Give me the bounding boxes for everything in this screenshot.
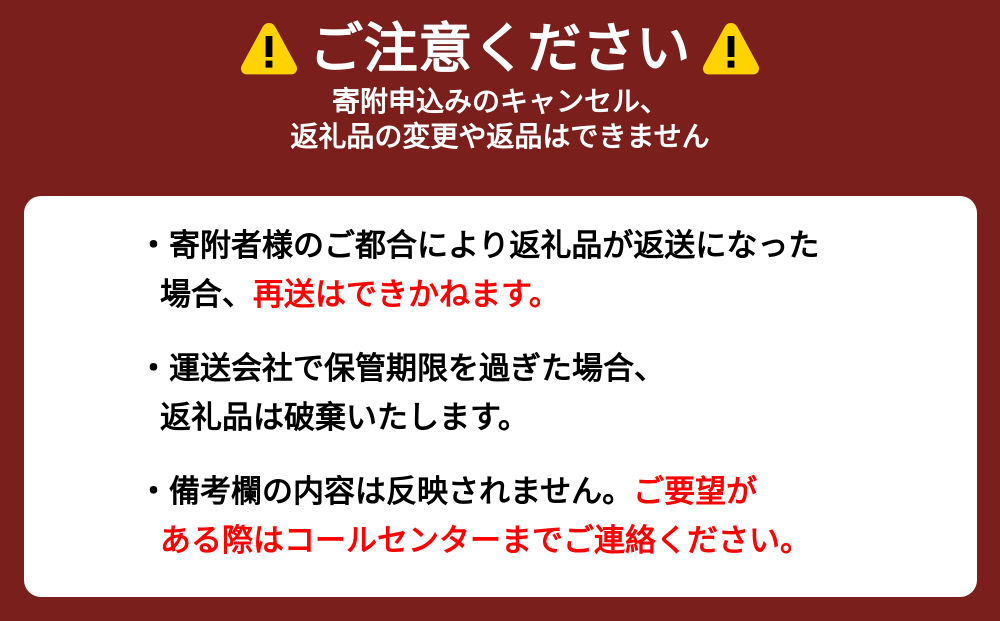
bullet-marker: ・ xyxy=(138,474,169,510)
warning-triangle-icon xyxy=(239,21,299,77)
subtitle-line-1: 寄附申込みのキャンセル、 xyxy=(0,84,1000,119)
note-line: ・備考欄の内容は反映されません。ご要望が xyxy=(138,468,977,517)
note-text-black: 返礼品は破棄いたします。 xyxy=(160,400,529,436)
note-line: ・寄附者様のご都合により返礼品が返送になった xyxy=(138,222,977,271)
note-text-black: 備考欄の内容は反映されません。 xyxy=(169,474,633,510)
note-text-black: 場合、 xyxy=(160,277,253,313)
note-text-red: ご要望が xyxy=(633,474,757,510)
note-text-red: ある際はコールセンターまでご連絡ください。 xyxy=(160,523,811,559)
note-line: ・運送会社で保管期限を過ぎた場合、 xyxy=(138,345,977,394)
notice-card: ・寄附者様のご都合により返礼品が返送になった 場合、再送はできかねます。 ・運送… xyxy=(24,196,977,597)
header-subtitle: 寄附申込みのキャンセル、 返礼品の変更や返品はできません xyxy=(0,84,1000,154)
title-row: ご注意ください xyxy=(0,14,1000,84)
subtitle-line-2: 返礼品の変更や返品はできません xyxy=(0,119,1000,154)
page-title: ご注意ください xyxy=(309,18,691,80)
bullet-marker: ・ xyxy=(138,351,169,387)
note-line: 返礼品は破棄いたします。 xyxy=(138,394,977,443)
list-item: ・寄附者様のご都合により返礼品が返送になった 場合、再送はできかねます。 xyxy=(138,222,977,320)
list-item: ・運送会社で保管期限を過ぎた場合、 返礼品は破棄いたします。 xyxy=(138,345,977,443)
warning-header: ご注意ください 寄附申込みのキャンセル、 返礼品の変更や返品はできません xyxy=(0,0,1000,154)
note-text-black: 運送会社で保管期限を過ぎた場合、 xyxy=(169,351,665,387)
note-text-red: 再送はできかねます。 xyxy=(253,277,560,313)
bullet-marker: ・ xyxy=(138,228,169,264)
note-line: ある際はコールセンターまでご連絡ください。 xyxy=(138,517,977,566)
warning-triangle-icon xyxy=(701,21,761,77)
notice-list: ・寄附者様のご都合により返礼品が返送になった 場合、再送はできかねます。 ・運送… xyxy=(138,222,977,566)
list-item: ・備考欄の内容は反映されません。ご要望が ある際はコールセンターまでご連絡くださ… xyxy=(138,468,977,566)
note-line: 場合、再送はできかねます。 xyxy=(138,271,977,320)
note-text-black: 寄附者様のご都合により返礼品が返送になった xyxy=(169,228,819,264)
